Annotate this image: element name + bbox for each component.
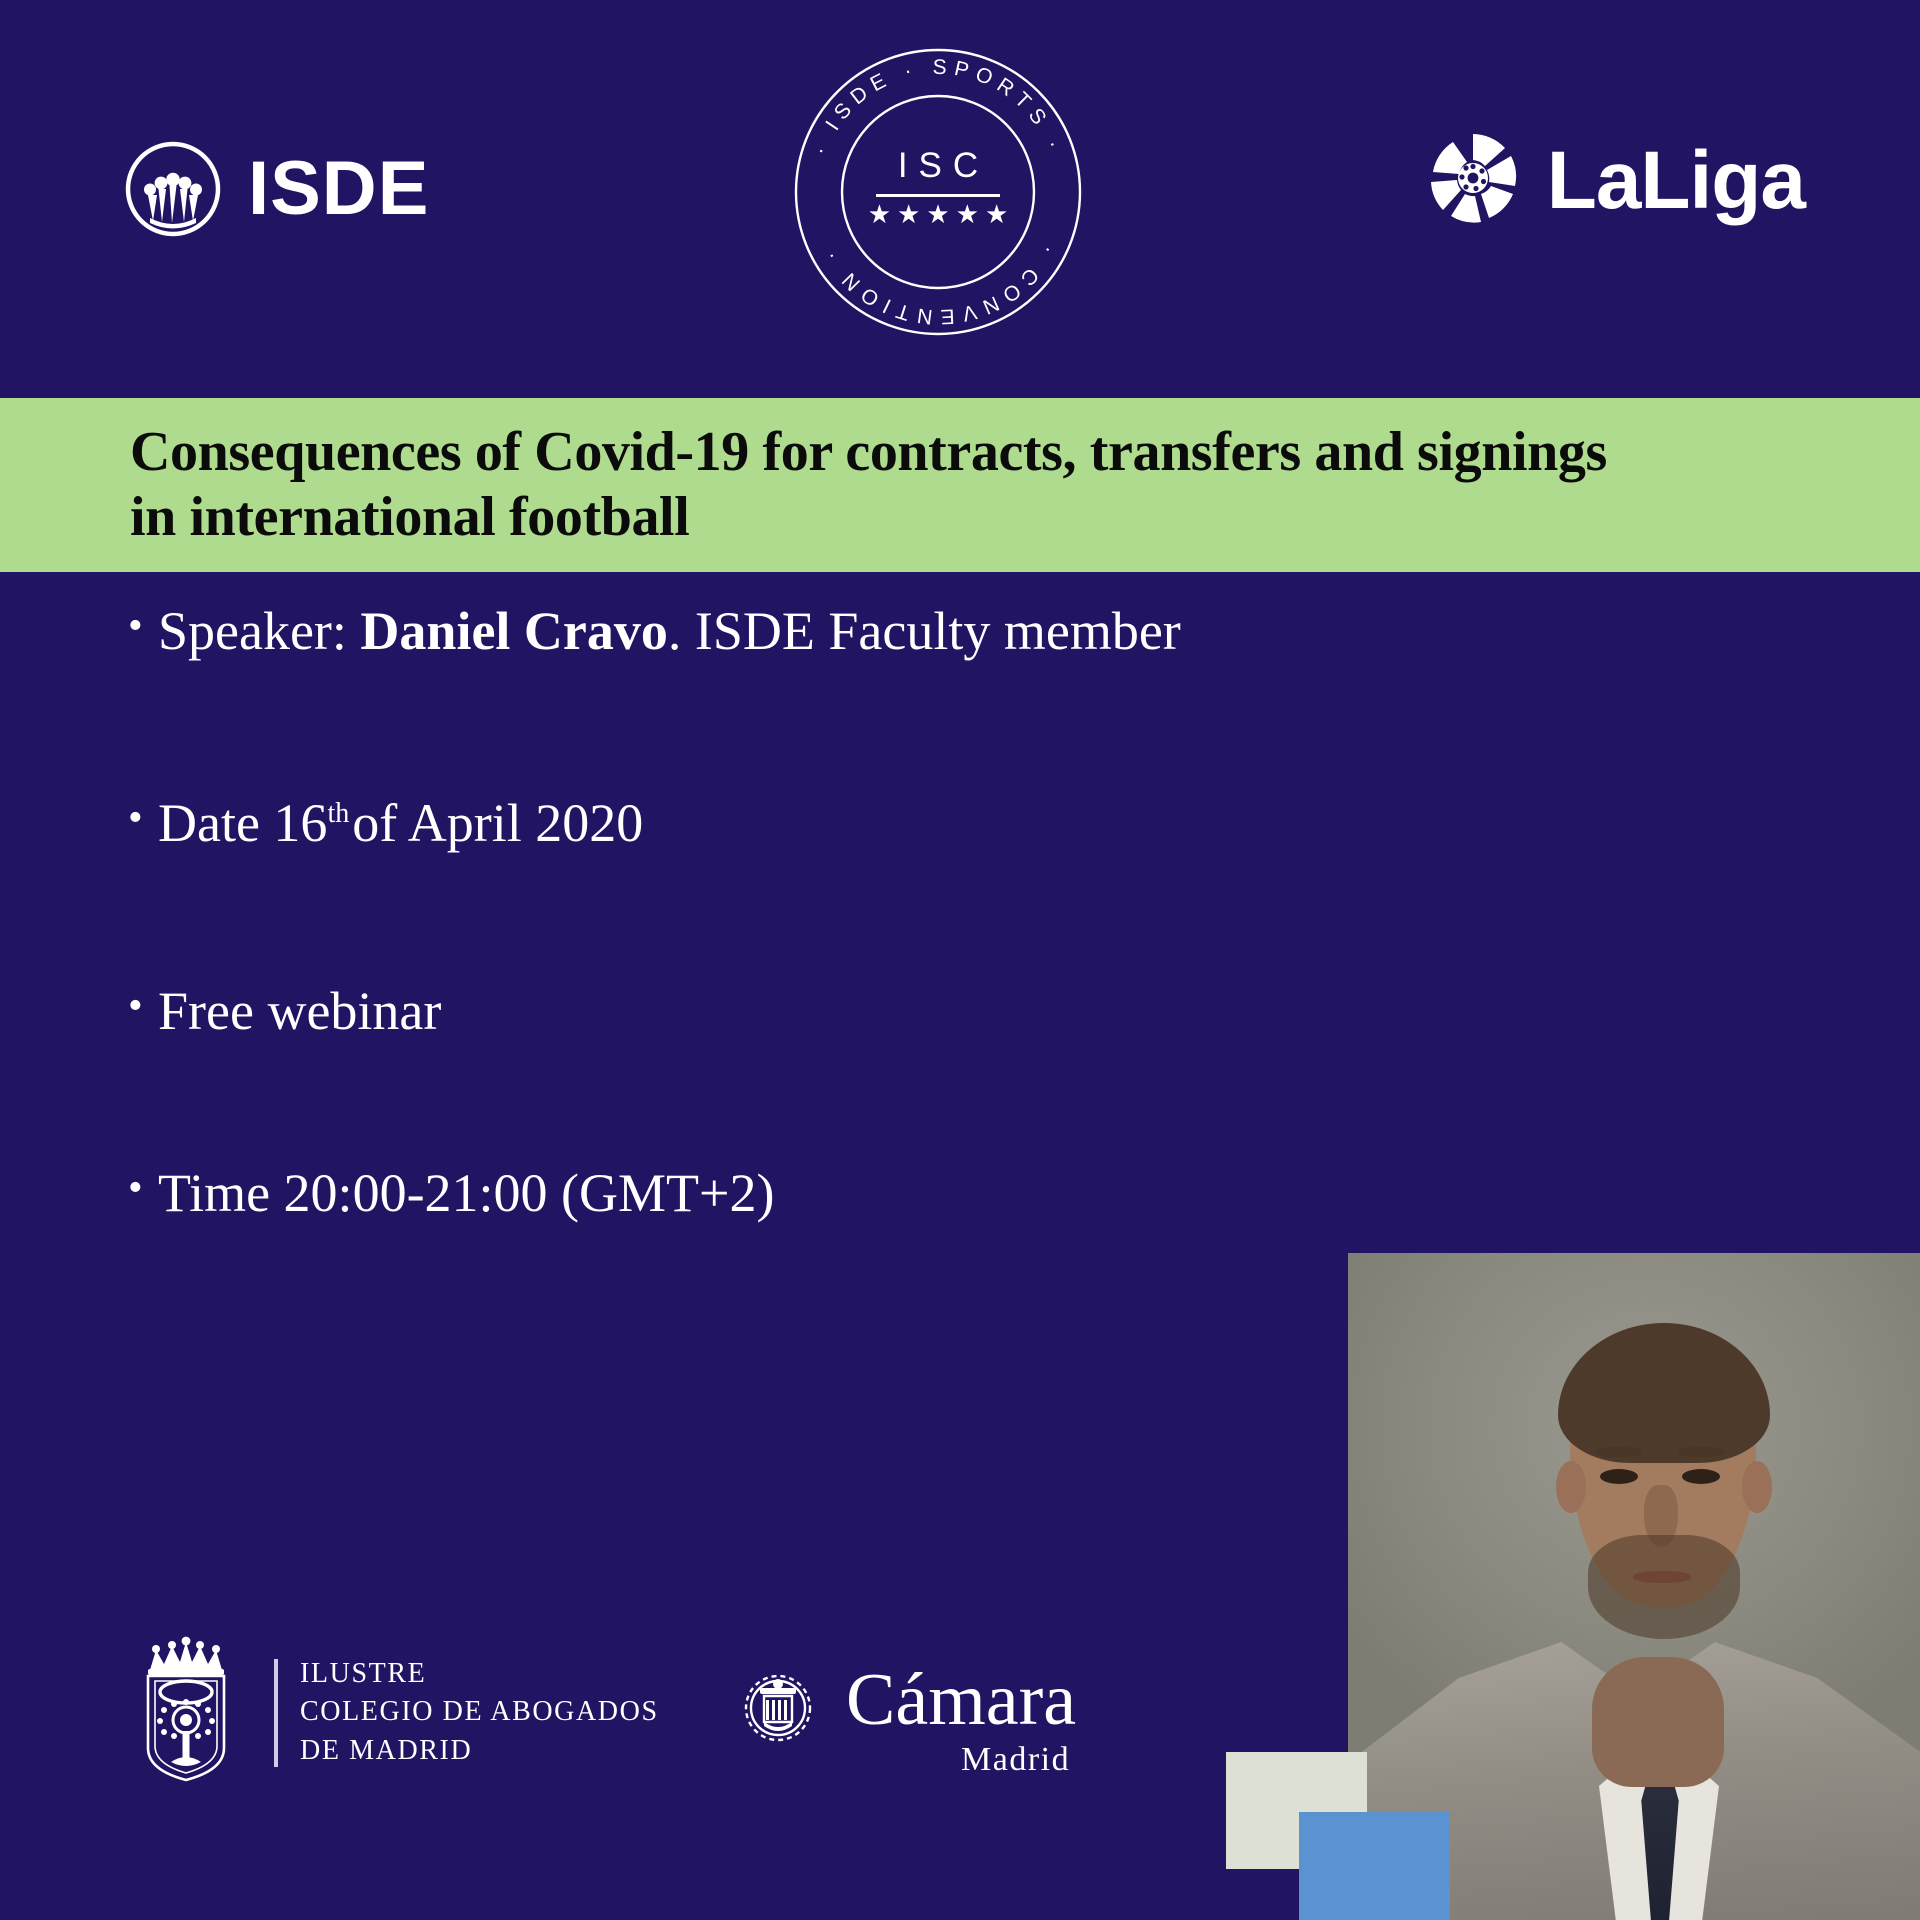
date-text: Date 16thof April 2020 xyxy=(158,794,643,853)
list-item-price: • Free webinar xyxy=(128,982,441,1041)
isde-logo: ISDE xyxy=(124,140,429,238)
portrait-ear-left xyxy=(1556,1461,1586,1513)
laliga-logo: LaLiga xyxy=(1423,128,1805,233)
icam-wordmark: ILUSTRE COLEGIO DE ABOGADOS DE MADRID xyxy=(300,1655,659,1771)
camara-cog-seal-icon xyxy=(730,1660,826,1761)
icam-divider xyxy=(274,1659,278,1767)
header-logo-bar: ISDE · ISDE · SPORTS · · CONVENTION · IS… xyxy=(0,0,1920,398)
date-ordinal-suffix: th xyxy=(327,798,352,829)
camara-sub-text: Madrid xyxy=(846,1741,1076,1779)
portrait-eye-right xyxy=(1682,1469,1720,1484)
speaker-suffix: . ISDE Faculty member xyxy=(668,601,1181,661)
icam-line3: DE MADRID xyxy=(300,1732,659,1771)
isc-divider-rule xyxy=(876,194,1000,197)
bullet-dot-icon: • xyxy=(128,982,158,1032)
crowned-shield-crest-icon xyxy=(126,1636,246,1789)
speaker-text: Speaker: Daniel Cravo. ISDE Faculty memb… xyxy=(158,602,1181,661)
accent-block-blue xyxy=(1299,1812,1450,1920)
svg-text:· ISDE · SPORTS ·: · ISDE · SPORTS · xyxy=(808,56,1067,159)
icam-line2: COLEGIO DE ABOGADOS xyxy=(300,1693,659,1732)
portrait-brow-left xyxy=(1596,1447,1642,1457)
portrait-mouth xyxy=(1633,1571,1691,1583)
speaker-name: Daniel Cravo xyxy=(360,601,667,661)
list-item-speaker: • Speaker: Daniel Cravo. ISDE Faculty me… xyxy=(128,602,1181,661)
speaker-prefix: Speaker: xyxy=(158,601,360,661)
date-prefix: Date 16 xyxy=(158,793,327,853)
list-item-date: • Date 16thof April 2020 xyxy=(128,794,643,853)
title-band: Consequences of Covid-19 for contracts, … xyxy=(0,398,1920,572)
isde-crown-circle-icon xyxy=(124,140,222,238)
page-title-line1: Consequences of Covid-19 for contracts, … xyxy=(130,420,1607,485)
icam-line1: ILUSTRE xyxy=(300,1655,659,1694)
time-text: Time 20:00-21:00 (GMT+2) xyxy=(158,1164,774,1223)
isc-seal-icon: · ISDE · SPORTS · · CONVENTION · ISC ★★★… xyxy=(788,42,1088,342)
isc-center-text: ISC xyxy=(788,146,1088,186)
portrait-ear-right xyxy=(1742,1461,1772,1513)
bullet-dot-icon: • xyxy=(128,1164,158,1214)
portrait-brow-right xyxy=(1678,1447,1724,1457)
webinar-poster: ISDE · ISDE · SPORTS · · CONVENTION · IS… xyxy=(0,0,1920,1920)
svg-text:· CONVENTION ·: · CONVENTION · xyxy=(816,241,1060,328)
portrait-eye-left xyxy=(1600,1469,1638,1484)
camara-main-text: Cámara xyxy=(846,1659,1076,1741)
camara-wordmark: Cámara Madrid xyxy=(846,1660,1076,1779)
bullet-dot-icon: • xyxy=(128,602,158,652)
laliga-wordmark: LaLiga xyxy=(1547,140,1805,222)
laliga-pinwheel-icon xyxy=(1423,128,1523,233)
icam-logo: ILUSTRE COLEGIO DE ABOGADOS DE MADRID xyxy=(126,1636,659,1789)
portrait-neck xyxy=(1592,1657,1724,1787)
page-title-line2: in international football xyxy=(130,485,1607,550)
list-item-time: • Time 20:00-21:00 (GMT+2) xyxy=(128,1164,774,1223)
isc-stars: ★★★★★ xyxy=(788,200,1088,230)
date-suffix: of April 2020 xyxy=(352,793,643,853)
portrait-beard xyxy=(1588,1535,1740,1639)
price-text: Free webinar xyxy=(158,982,441,1041)
isde-wordmark: ISDE xyxy=(248,151,429,227)
bullet-dot-icon: • xyxy=(128,794,158,844)
camara-logo: Cámara Madrid xyxy=(730,1660,1076,1779)
page-title: Consequences of Covid-19 for contracts, … xyxy=(0,420,1607,550)
